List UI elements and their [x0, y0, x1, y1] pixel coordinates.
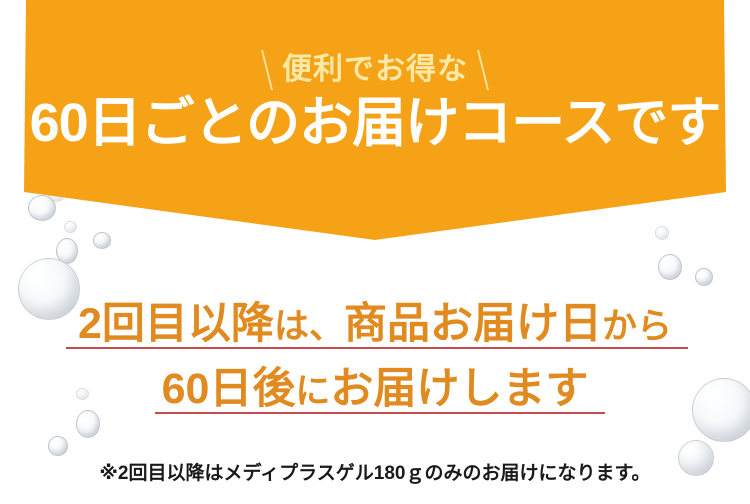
promo-banner-page: 便利でお得な 60日ごとのお届けコースです 2回目以降は、商品お届け日から 60… [0, 0, 750, 504]
headline-line1-part2: は、 [274, 307, 344, 346]
bubble-decoration [695, 268, 713, 286]
headline-line1-part1: 2回目以降 [78, 300, 274, 348]
bubble-decoration [48, 436, 68, 456]
slash-left-icon [261, 50, 273, 90]
banner-subtitle-row: 便利でお得な [0, 48, 750, 92]
banner-subtitle: 便利でお得な [282, 55, 468, 85]
headline-line2-part3: お届けします [330, 365, 588, 413]
headline-line2-part2: に [295, 372, 330, 411]
headline-line-1: 2回目以降は、商品お届け日から [0, 303, 750, 346]
slash-right-icon [477, 50, 489, 90]
headline-line1-part4: から [602, 307, 672, 346]
bubble-decoration [76, 410, 100, 438]
bubble-decoration [658, 254, 682, 280]
footnote-text: ※2回目以降はメディプラスゲル180ｇのみのお届けになります。 [0, 458, 750, 485]
headline-line1-part3: 商品お届け日 [344, 300, 602, 348]
headline-line2-part1: 60日後 [162, 365, 296, 413]
headline-line-2: 60日後にお届けします [0, 368, 750, 411]
banner-title: 60日ごとのお届けコースです [0, 96, 750, 150]
